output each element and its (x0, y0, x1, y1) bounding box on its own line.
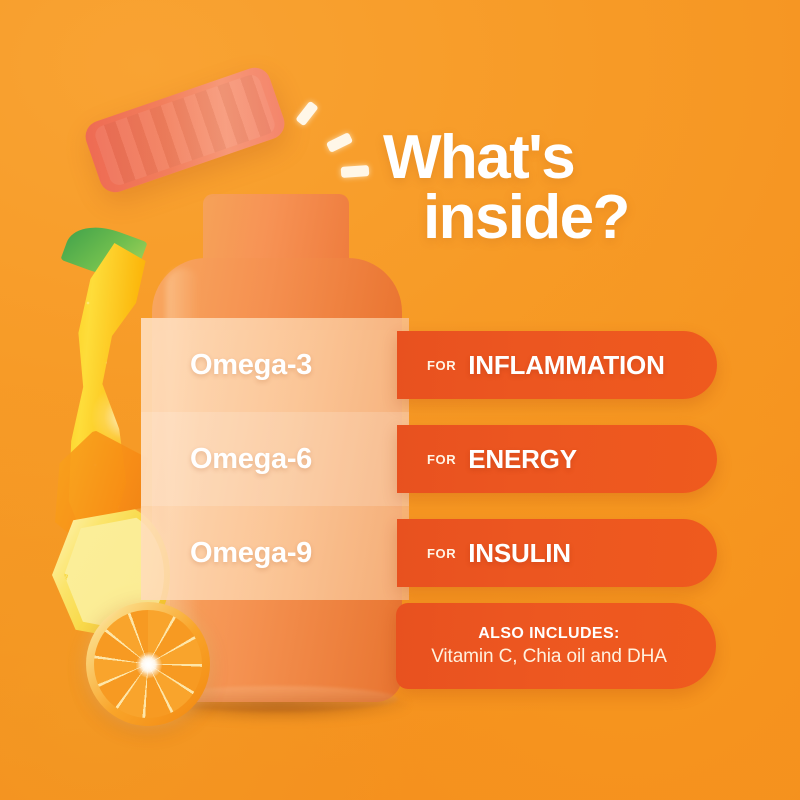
ingredient-label: Omega-6 (141, 443, 397, 476)
sparkle-icon (341, 165, 370, 178)
benefit-pill: FOR INSULIN (397, 519, 717, 587)
benefit-pill: FOR INFLAMMATION (397, 331, 717, 399)
for-label: FOR (427, 546, 456, 561)
benefit-row: Omega-6 FOR ENERGY (141, 412, 719, 506)
for-label: FOR (427, 452, 456, 467)
product-benefits-poster: What's inside? Omega-3 FOR INFLAMMATION … (0, 0, 800, 800)
benefit-label: INSULIN (468, 538, 571, 569)
page-title-line-1: What's (383, 123, 574, 192)
benefit-label: INFLAMMATION (468, 350, 664, 381)
sparkle-icon (326, 132, 353, 153)
ingredient-label: Omega-9 (141, 537, 397, 570)
also-includes-items: Vitamin C, Chia oil and DHA (431, 646, 667, 668)
also-includes-title: ALSO INCLUDES: (478, 625, 620, 643)
also-includes-box: ALSO INCLUDES: Vitamin C, Chia oil and D… (396, 603, 716, 689)
page-title-line-2: inside? (383, 188, 743, 249)
page-title: What's inside? (383, 128, 743, 250)
bottle-cap (81, 63, 289, 196)
benefit-pill: FOR ENERGY (397, 425, 717, 493)
ingredient-label: Omega-3 (141, 349, 397, 382)
sparkle-icon (295, 101, 318, 127)
benefit-row: Omega-9 FOR INSULIN (141, 506, 719, 600)
benefit-row: Omega-3 FOR INFLAMMATION (141, 318, 719, 412)
for-label: FOR (427, 358, 456, 373)
orange-slice-core (136, 652, 162, 678)
benefit-label: ENERGY (468, 444, 577, 475)
